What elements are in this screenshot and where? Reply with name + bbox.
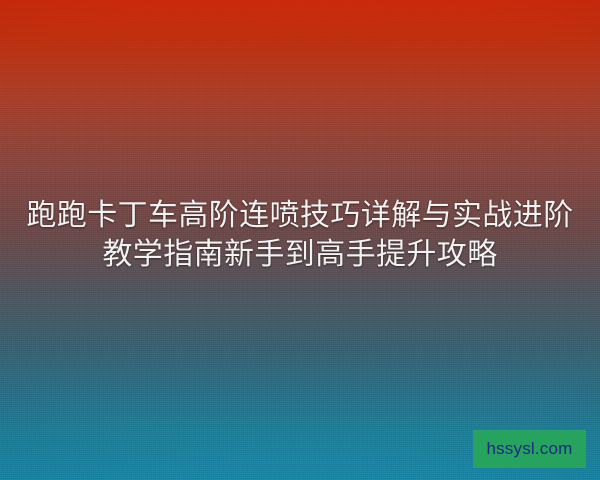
page-title: 跑跑卡丁车高阶连喷技巧详解与实战进阶 教学指南新手到高手提升攻略 [0, 196, 600, 274]
cover-image: 跑跑卡丁车高阶连喷技巧详解与实战进阶 教学指南新手到高手提升攻略 hssysl.… [0, 0, 600, 480]
watermark-label: hssysl.com [486, 439, 572, 459]
watermark-badge: hssysl.com [473, 430, 586, 468]
